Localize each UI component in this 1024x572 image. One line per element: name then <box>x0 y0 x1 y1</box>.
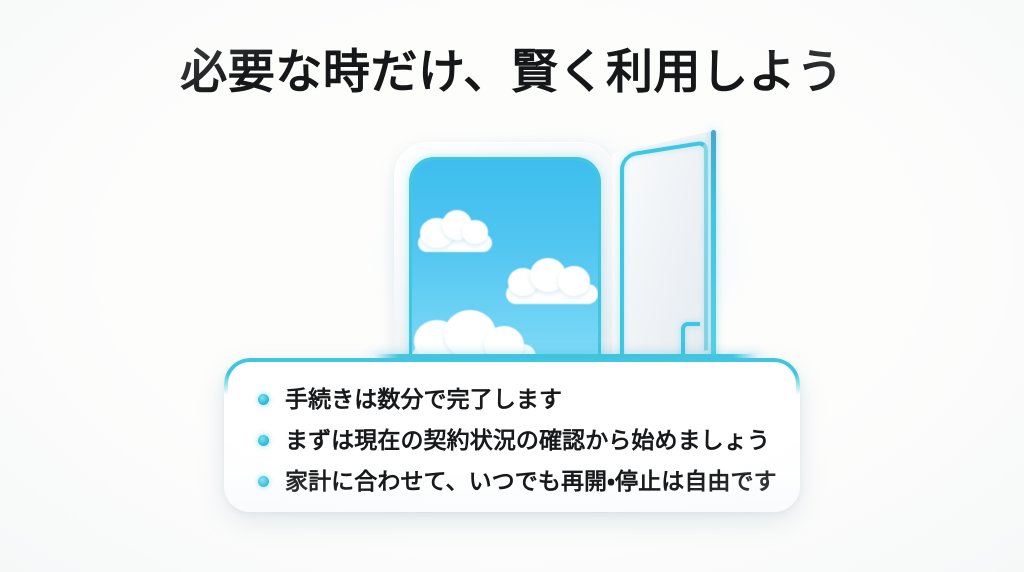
bullet-dot-icon <box>258 476 269 487</box>
bullet-list: 手続きは数分で完了します まずは現在の契約状況の確認から始めましょう 家計に合わ… <box>258 380 778 503</box>
door-spine <box>711 130 716 370</box>
bullet-text: 家計に合わせて、いつでも再開・停止は自由です <box>285 467 777 496</box>
doorway-opening <box>412 160 598 368</box>
open-door-panel <box>598 130 716 370</box>
bullet-dot-icon <box>258 394 269 405</box>
list-item: 家計に合わせて、いつでも再開・停止は自由です <box>258 462 778 500</box>
open-door-illustration <box>352 128 772 373</box>
slide-root: 必要な時だけ、賢く利用しよう <box>0 0 1024 572</box>
list-item: まずは現在の契約状況の確認から始めましょう <box>258 421 778 459</box>
page-title: 必要な時だけ、賢く利用しよう <box>0 44 1024 99</box>
list-item: 手続きは数分で完了します <box>258 380 778 418</box>
bullet-text: 手続きは数分で完了します <box>285 385 562 414</box>
bullet-card: 手続きは数分で完了します まずは現在の契約状況の確認から始めましょう 家計に合わ… <box>224 358 800 512</box>
bullet-dot-icon <box>258 435 269 446</box>
bullet-text: まずは現在の契約状況の確認から始めましょう <box>285 426 770 455</box>
